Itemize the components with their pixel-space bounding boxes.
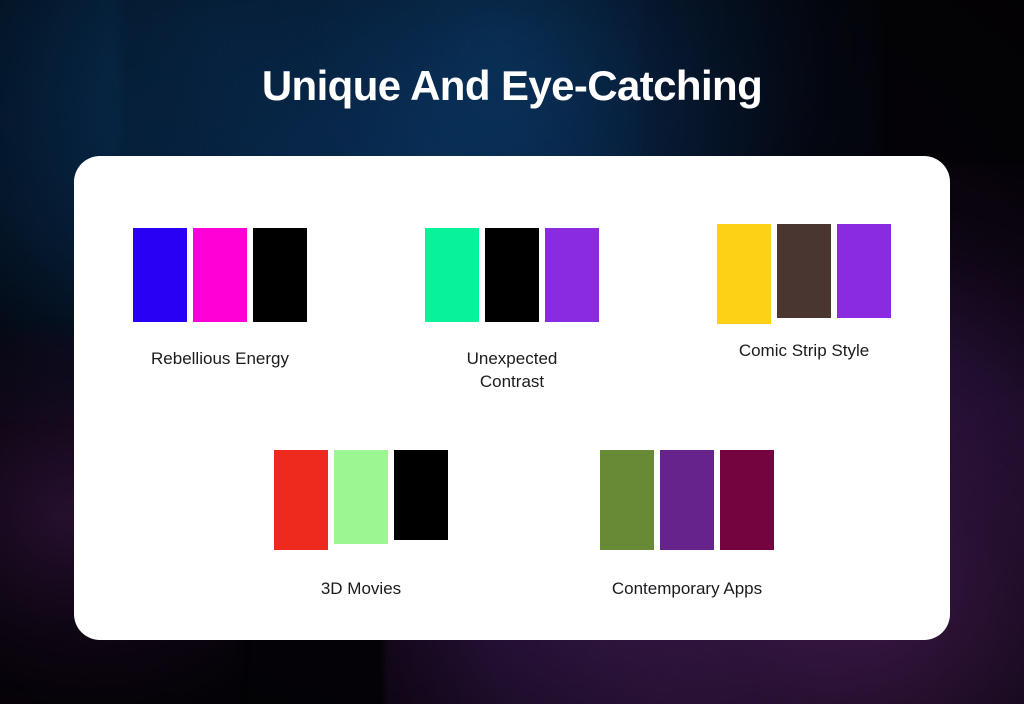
swatch-light-green[interactable] (334, 450, 388, 544)
page-root: Unique And Eye-Catching Rebellious Energ… (0, 0, 1024, 704)
swatch-dark-brown[interactable] (777, 224, 831, 318)
palette-group-3d-movies[interactable]: 3D Movies (198, 398, 524, 640)
palette-group-rebellious-energy[interactable]: Rebellious Energy (74, 156, 366, 398)
palette-label: Rebellious Energy (151, 348, 289, 371)
palette-label: Comic Strip Style (739, 340, 869, 363)
page-title: Unique And Eye-Catching (0, 62, 1024, 110)
swatch-violet-purple[interactable] (837, 224, 891, 318)
palette-group-comic-strip-style[interactable]: Comic Strip Style (658, 156, 950, 398)
swatch-strip (600, 450, 774, 554)
swatch-black[interactable] (394, 450, 448, 540)
swatch-black[interactable] (485, 228, 539, 322)
palette-row-top: Rebellious Energy Unexpected Contrast Co… (74, 156, 950, 398)
swatch-strip (717, 224, 891, 328)
swatch-electric-blue[interactable] (133, 228, 187, 322)
swatch-strip (133, 228, 307, 332)
palette-group-contemporary-apps[interactable]: Contemporary Apps (524, 398, 850, 640)
palette-card: Rebellious Energy Unexpected Contrast Co… (74, 156, 950, 640)
swatch-violet-purple[interactable] (545, 228, 599, 322)
swatch-olive-green[interactable] (600, 450, 654, 550)
swatch-strip (425, 228, 599, 332)
swatch-spring-green[interactable] (425, 228, 479, 322)
palette-group-unexpected-contrast[interactable]: Unexpected Contrast (366, 156, 658, 398)
palette-row-bottom: 3D Movies Contemporary Apps (74, 398, 950, 640)
swatch-royal-purple[interactable] (660, 450, 714, 550)
swatch-golden-yellow[interactable] (717, 224, 771, 324)
swatch-black[interactable] (253, 228, 307, 322)
swatch-hot-magenta[interactable] (193, 228, 247, 322)
palette-label: Contemporary Apps (612, 578, 762, 601)
swatch-dark-maroon[interactable] (720, 450, 774, 550)
swatch-bright-red[interactable] (274, 450, 328, 550)
palette-label: Unexpected Contrast (447, 348, 577, 394)
palette-label: 3D Movies (321, 578, 401, 601)
swatch-strip (274, 450, 448, 554)
